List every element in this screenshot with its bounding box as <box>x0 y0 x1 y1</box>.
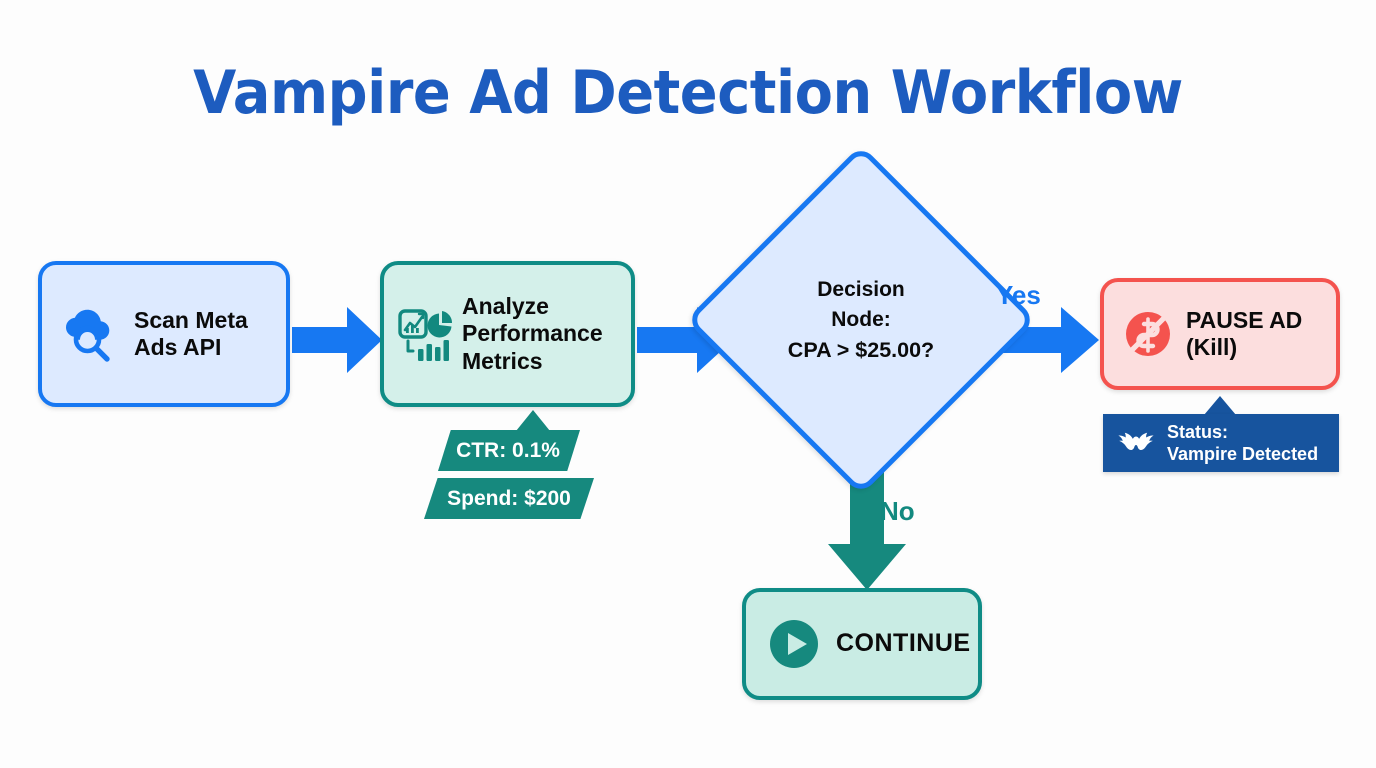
node-pause-ad[interactable]: PAUSE AD (Kill) <box>1100 278 1340 390</box>
node-scan-label: Scan Meta Ads API <box>134 307 248 361</box>
node-analyze-performance-metrics[interactable]: Analyze Performance Metrics <box>380 261 635 407</box>
bat-icon <box>1115 430 1157 456</box>
play-circle-icon <box>768 618 820 670</box>
node-continue[interactable]: CONTINUE <box>742 588 982 700</box>
edge-label-no: No <box>880 496 915 527</box>
no-money-icon <box>1120 306 1176 362</box>
cloud-search-icon <box>60 303 122 365</box>
node-decision-label: Decision Node: CPA > $25.00? <box>737 196 985 444</box>
node-scan-meta-ads-api[interactable]: Scan Meta Ads API <box>38 261 290 407</box>
status-badge: Status: Vampire Detected <box>1103 414 1339 472</box>
node-decision-cpa-threshold[interactable]: Decision Node: CPA > $25.00? <box>737 196 985 444</box>
tag-spend: Spend: $200 <box>424 478 594 519</box>
node-continue-label: CONTINUE <box>836 629 971 659</box>
node-analyze-label: Analyze Performance Metrics <box>462 293 603 374</box>
ctr-tag-pointer <box>516 410 550 431</box>
status-badge-pointer <box>1204 396 1236 415</box>
page-title: Vampire Ad Detection Workflow <box>48 58 1328 128</box>
edge-label-yes: Yes <box>996 280 1041 311</box>
status-badge-text: Status: Vampire Detected <box>1167 421 1318 466</box>
arrow-scan-to-analyze <box>292 305 384 375</box>
tag-ctr: CTR: 0.1% <box>438 430 580 471</box>
node-pause-label: PAUSE AD (Kill) <box>1186 307 1302 361</box>
diagram-canvas: Vampire Ad Detection Workflow Scan Meta … <box>0 0 1376 768</box>
analytics-charts-icon <box>398 303 454 365</box>
